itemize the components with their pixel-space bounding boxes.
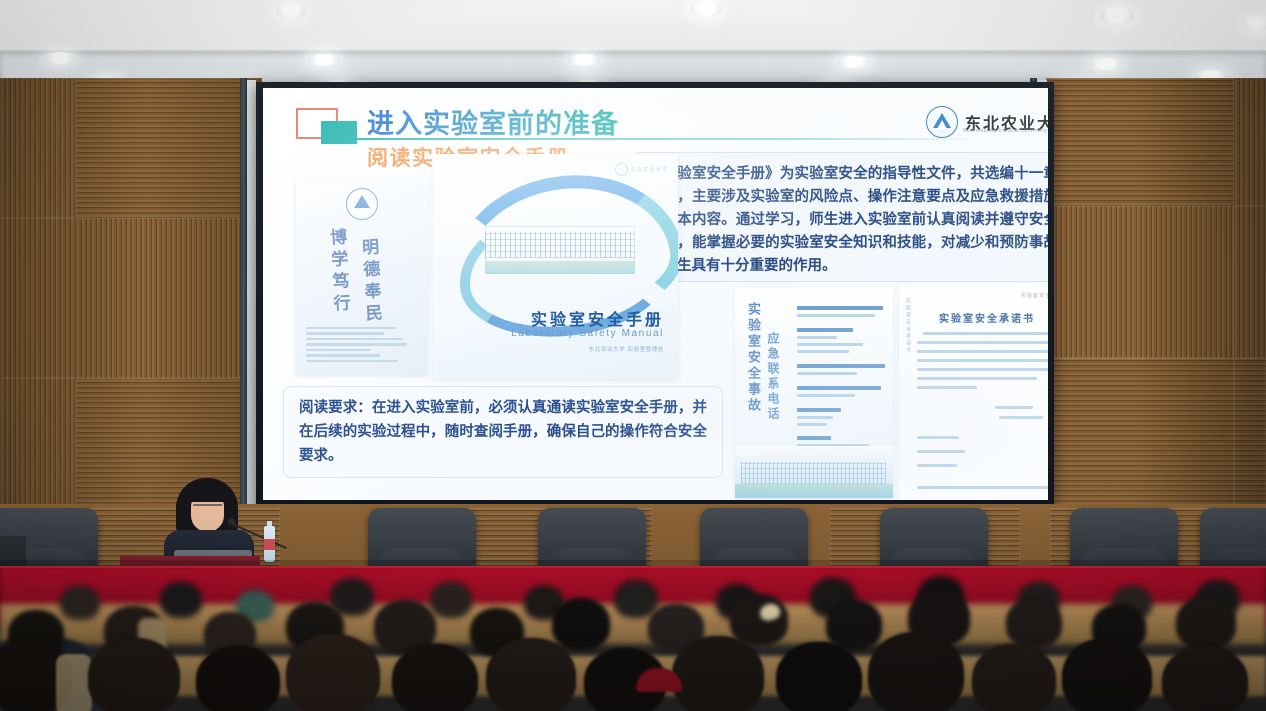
audience-head [730,594,788,646]
presenter-glasses [193,504,222,514]
inner-text-line [797,314,875,317]
audience [0,560,1266,711]
manual-title-cn: 实验室安全手册 [433,306,664,330]
manual-motto-right: 明德奉民 [356,237,386,326]
lecture-hall-photo: 进入实验室前的准备 阅读实验室安全手册 东北农业大学 Northeast Agr… [0,0,1266,711]
inner-page-vertical-title: 实验室安全事故 [744,302,763,414]
university-logo: 东北农业大学 Northeast Agricultural University [926,102,1048,142]
manual-emblem-icon [346,188,378,220]
manual-title-en: Laboratory Safety Manual [433,328,664,339]
decor-square-filled-icon [321,121,357,144]
inner-text-line [917,486,1048,489]
inner-text-line [797,343,863,346]
ceiling-downlight [690,0,722,18]
slide-body-panel: 《实验室安全手册》为实验室安全的指导性文件，共选编十一章内容，主要涉及实验室的风… [633,152,1048,282]
commitment-letter-title: 实验室安全承诺书 [899,310,1048,325]
ceiling-downlight [1100,6,1134,25]
inner-text-line [797,372,857,375]
manual-cover-logo: 东北农业大学 [615,163,668,176]
inner-text-line [917,368,1048,371]
cover-campus-photo [485,226,635,274]
audience-head [88,638,180,711]
ceiling-downlight [568,54,600,66]
inner-text-line [797,436,831,440]
slide-title: 进入实验室前的准备 [367,102,619,141]
audience-head [672,636,764,711]
manual-front-cover: 东北农业大学 实验室安全手册 Laboratory Safety Manual … [433,154,678,379]
inner-text-line [797,350,849,353]
university-emblem-icon [926,106,958,138]
inner-text-line [917,350,1048,353]
audience-head [430,582,472,618]
water-bottle-label [264,539,275,550]
slide-title-rule [355,138,985,140]
audience-head [392,644,478,711]
audience-head [826,600,882,650]
audience-head [1162,646,1248,711]
inner-text-line [797,423,827,426]
audience-head [1006,598,1062,648]
manual-cover-emblem-icon [615,163,628,176]
inner-text-line [917,341,1048,344]
inner-text-line [917,386,977,389]
audience-head [868,632,964,711]
ceiling-downlight [308,54,340,66]
manual-organization: 东北农业大学 实验室管理处 [433,347,664,354]
audience-head [196,646,280,711]
inner-text-line [999,416,1043,419]
inner-text-line [917,377,1037,380]
inner-text-line [917,359,1048,362]
inner-text-line [797,336,837,339]
inner-text-line [995,406,1033,409]
presentation-slide: 进入实验室前的准备 阅读实验室安全手册 东北农业大学 Northeast Agr… [263,88,1048,500]
presenter-fringe [182,482,232,502]
manual-inner-page-left: 实验室安全事故 应急联系电话 [735,288,893,498]
inner-page-campus-illustration [735,446,893,498]
inner-right-header-tag: 实验室安全手册 [1021,292,1048,299]
inner-text-line [797,328,853,332]
inner-signature-line [917,464,957,467]
inner-text-line [797,386,881,390]
ceiling-downlight [45,52,75,64]
slide-requirement-text: 阅读要求：在进入实验室前，必须认真通读实验室安全手册，并在后续的实验过程中，随时… [299,396,707,468]
audience-head [972,644,1056,711]
slide-requirement-panel: 阅读要求：在进入实验室前，必须认真通读实验室安全手册，并在后续的实验过程中，随时… [283,386,723,478]
manual-imprint-lines [306,327,411,366]
audience-head [1176,596,1236,650]
slide-body-text: 《实验室安全手册》为实验室安全的指导性文件，共选编十一章内容，主要涉及实验室的风… [648,163,1048,278]
ceiling-downlight [1243,16,1266,32]
inner-right-side-label: 实验室安全承诺书 [905,298,912,354]
audience-head [60,586,100,620]
university-name-en: Northeast Agricultural University [963,128,1047,134]
audience-head [160,582,202,618]
audience-head [1062,638,1152,711]
manual-cover-university-name: 东北农业大学 [631,166,668,173]
ceiling-downlight [838,56,870,68]
inner-page-vertical-subtitle: 应急联系电话 [765,332,782,422]
audience-head-highlight [56,654,92,711]
audience-head [486,638,576,711]
inner-signature-line [917,436,959,439]
inner-signature-line [917,450,965,453]
manual-motto-left: 博学笃行 [324,227,354,316]
ceiling-downlight [1090,58,1122,70]
manual-inner-page-right: 实验室安全手册 实验室安全承诺书 实验室安全承诺书 [899,284,1048,500]
inner-text-line [797,306,883,310]
audience-head [286,634,380,711]
inner-text-line [797,416,833,419]
water-bottle [264,526,275,562]
inner-text-line [797,394,855,397]
audience-head [776,642,862,711]
inner-text-line [797,364,885,368]
ceiling-downlight [276,2,306,19]
manual-back-cover: 博学笃行 明德奉民 [296,180,428,375]
audience-head [614,580,658,618]
projection-screen: 进入实验室前的准备 阅读实验室安全手册 东北农业大学 Northeast Agr… [263,88,1048,500]
audience-head [552,598,610,650]
inner-text-line [923,332,1048,335]
inner-text-line [797,408,841,412]
